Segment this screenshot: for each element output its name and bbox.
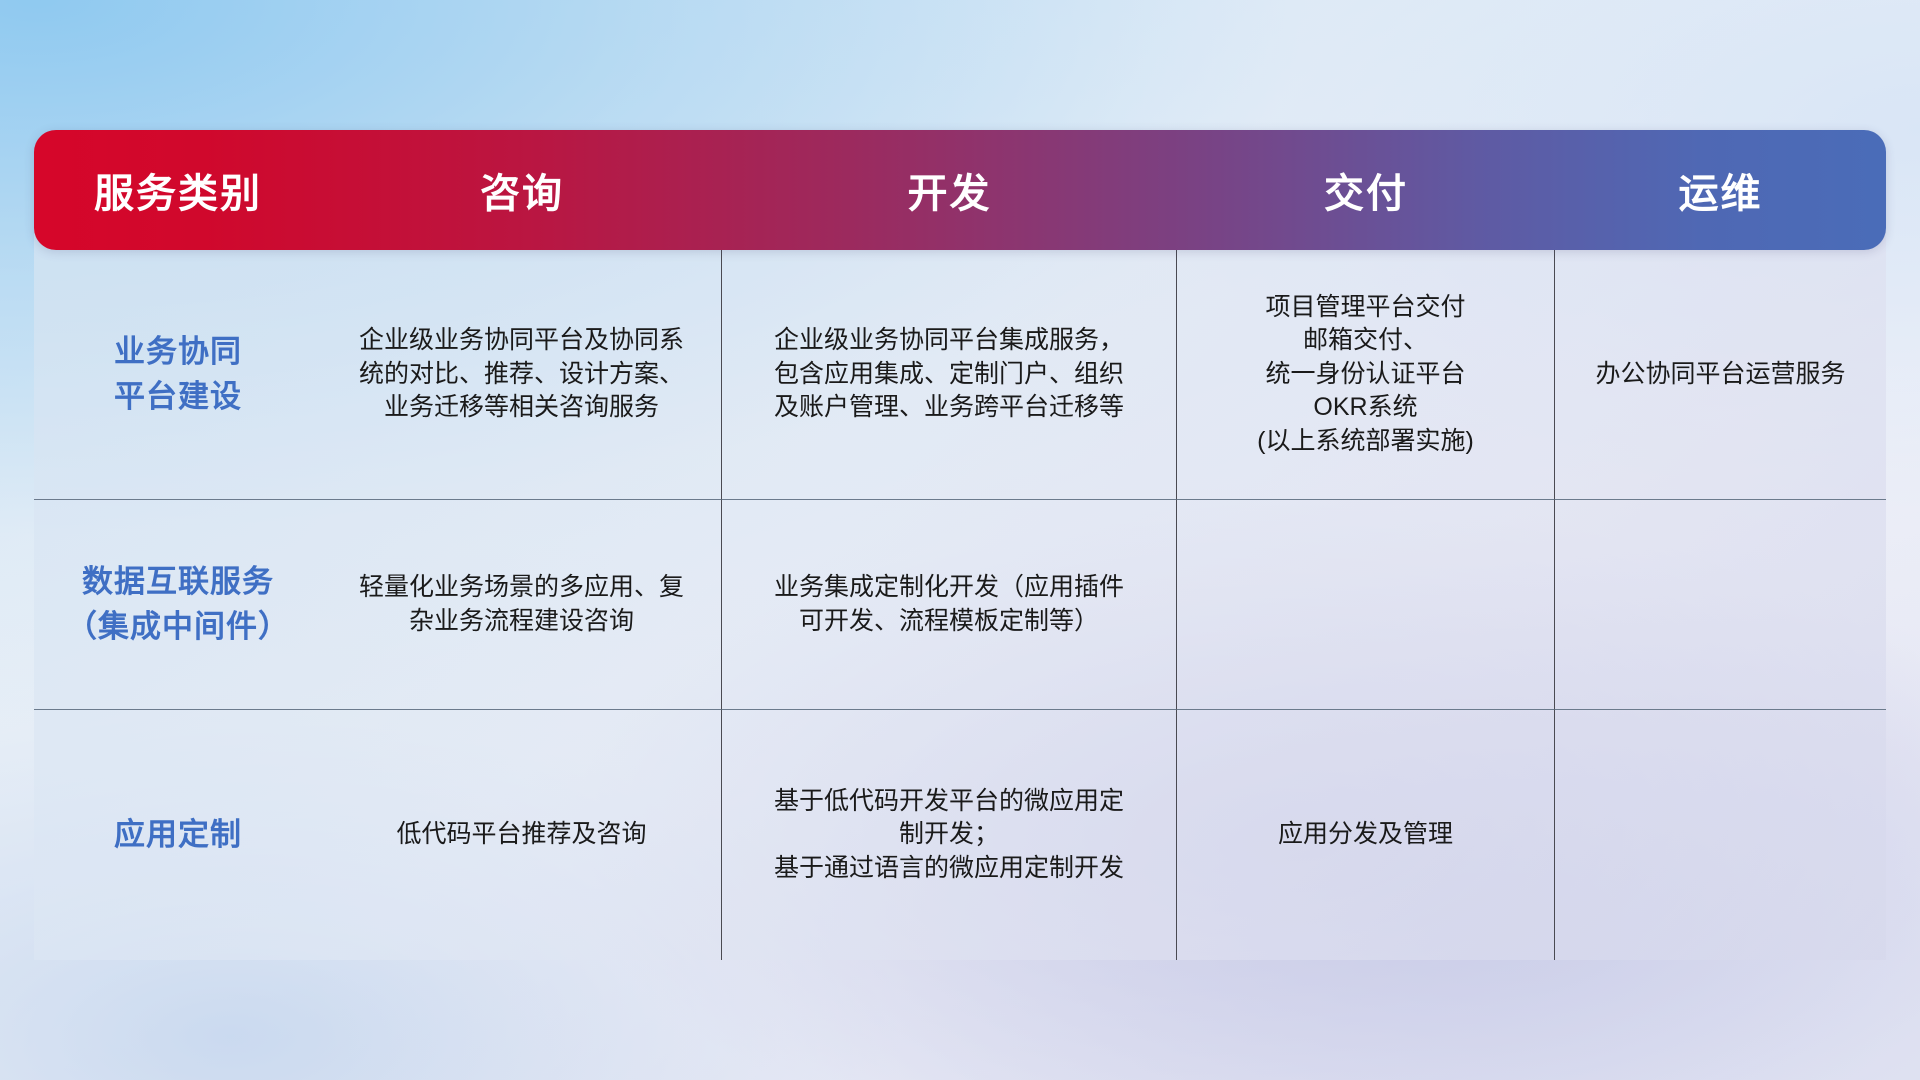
table-header-row: 服务类别 咨询 开发 交付 运维	[34, 130, 1886, 250]
table-cell-consulting: 低代码平台推荐及咨询	[322, 710, 722, 960]
table-cell-consulting: 企业级业务协同平台及协同系 统的对比、推荐、设计方案、 业务迁移等相关咨询服务	[322, 250, 722, 500]
table-cell-development: 基于低代码开发平台的微应用定 制开发； 基于通过语言的微应用定制开发	[722, 710, 1177, 960]
slide-canvas: 服务类别 咨询 开发 交付 运维 业务协同 平台建设 企业级业务协同平台及协同系…	[0, 0, 1920, 1080]
table-cell-consulting: 轻量化业务场景的多应用、复 杂业务流程建设咨询	[322, 500, 722, 710]
table-cell-operations	[1555, 710, 1886, 960]
table-cell-delivery	[1177, 500, 1555, 710]
table-header-operations: 运维	[1555, 161, 1886, 219]
table-grid: 业务协同 平台建设 企业级业务协同平台及协同系 统的对比、推荐、设计方案、 业务…	[34, 250, 1886, 960]
table-cell-development: 企业级业务协同平台集成服务， 包含应用集成、定制门户、组织 及账户管理、业务跨平…	[722, 250, 1177, 500]
table-header-delivery: 交付	[1177, 161, 1555, 219]
table-cell-development: 业务集成定制化开发（应用插件 可开发、流程模板定制等）	[722, 500, 1177, 710]
table-row: 业务协同 平台建设	[34, 250, 322, 500]
table-header-consulting: 咨询	[322, 161, 722, 219]
table-row: 数据互联服务 （集成中间件）	[34, 500, 322, 710]
service-matrix-table: 服务类别 咨询 开发 交付 运维 业务协同 平台建设 企业级业务协同平台及协同系…	[34, 130, 1886, 960]
table-cell-delivery: 项目管理平台交付 邮箱交付、 统一身份认证平台 OKR系统 (以上系统部署实施)	[1177, 250, 1555, 500]
table-cell-operations: 办公协同平台运营服务	[1555, 250, 1886, 500]
table-header-service-category: 服务类别	[34, 161, 322, 219]
table-header-development: 开发	[722, 161, 1177, 219]
table-cell-delivery: 应用分发及管理	[1177, 710, 1555, 960]
table-row: 应用定制	[34, 710, 322, 960]
table-cell-operations	[1555, 500, 1886, 710]
